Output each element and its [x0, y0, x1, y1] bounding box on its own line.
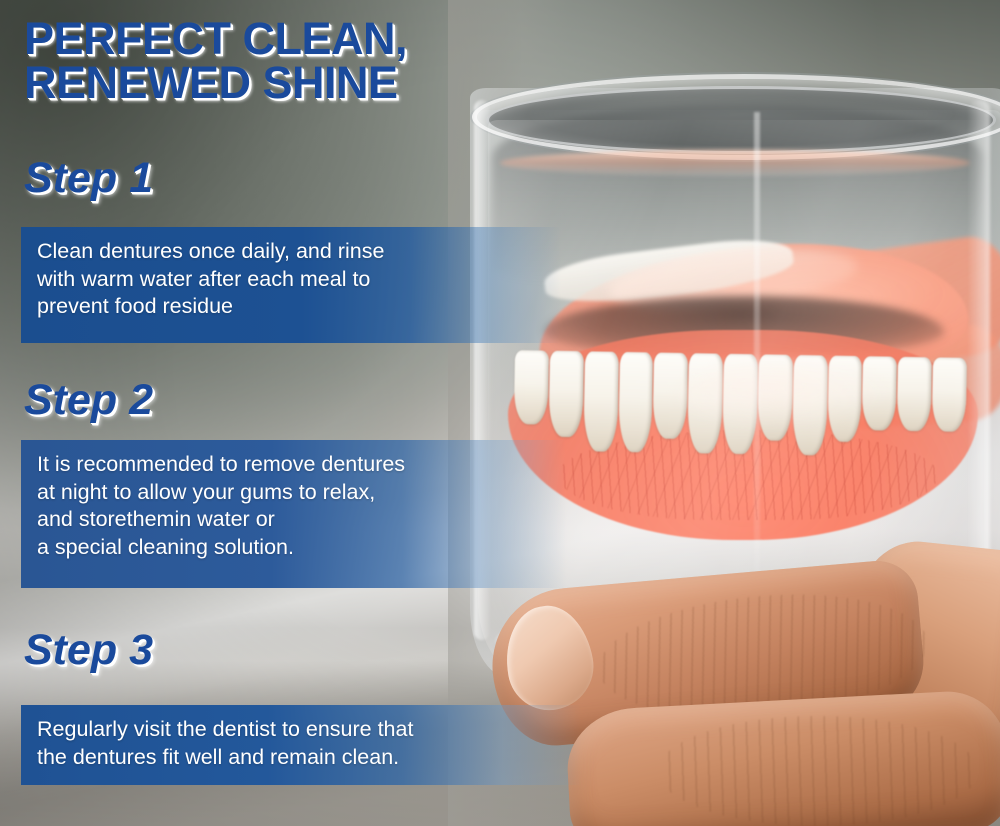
promo-infographic: PERFECT CLEAN, RENEWED SHINE Step 1 Clea…	[0, 0, 1000, 826]
finger-lower-wrinkle-texture	[658, 716, 978, 826]
step-2-panel: It is recommended to remove dentures at …	[21, 440, 566, 588]
step-3-panel: Regularly visit the dentist to ensure th…	[21, 705, 581, 785]
step-3-label: Step 3	[24, 626, 153, 675]
hand	[448, 0, 1000, 826]
step-1-label: Step 1	[24, 154, 153, 203]
step-1-panel: Clean dentures once daily, and rinse wit…	[21, 227, 561, 343]
step-2-label: Step 2	[24, 376, 153, 425]
page-title: PERFECT CLEAN, RENEWED SHINE	[24, 17, 544, 105]
denture-glass-photo	[448, 0, 1000, 826]
